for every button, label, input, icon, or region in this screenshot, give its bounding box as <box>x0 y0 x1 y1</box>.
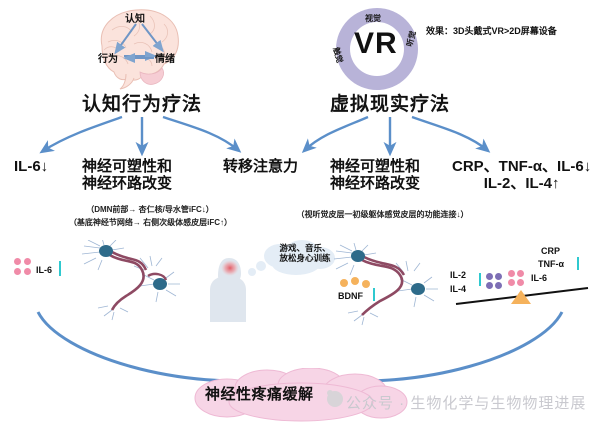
outcome-attention-shift: 转移注意力 <box>223 158 298 175</box>
vr-effect-note: 效果：3D头戴式VR>2D屏幕设备 <box>426 24 557 37</box>
therapy-title-vrt: 虚拟现实疗法 <box>330 89 450 116</box>
il24-up-arrow-icon <box>476 272 484 288</box>
outcome-line-2: 神经环路改变 <box>330 175 420 192</box>
balance-label-il4: IL-4 <box>450 284 466 294</box>
outcome-line-2: 神经环路改变 <box>82 175 172 192</box>
il24-molecule-dots <box>486 273 508 291</box>
il6-down-arrow-icon <box>56 260 64 278</box>
il6-balance-dots <box>508 270 530 288</box>
brain-label-emotion: 情绪 <box>155 50 175 65</box>
balance-label-crp: CRP <box>541 246 560 256</box>
brain-label-cognition: 认知 <box>125 10 145 25</box>
outcome-line-2: IL-2、IL-4↑ <box>452 175 591 192</box>
outcome-neuroplasticity-right: 神经可塑性和 神经环路改变 <box>330 158 420 192</box>
outcome-line-1: 神经可塑性和 <box>330 158 420 175</box>
bdnf-molecule-dots <box>340 277 374 287</box>
brain-label-behavior: 行为 <box>98 50 118 65</box>
outcome-il6-down: IL-6↓ <box>14 158 48 175</box>
outcome-note-basal: （基底神经节网络→ 右侧次级体感皮层iFC↑） <box>18 217 283 228</box>
outcome-note-sensory: （视听觉皮层一初级躯体感觉皮层的功能连接↓） <box>275 209 490 220</box>
vr-center-label: VR <box>354 27 398 61</box>
outcome-line-1: CRP、TNF-α、IL-6↓ <box>452 158 591 175</box>
watermark-text: 公众号 · 生物化学与生物物理进展 <box>346 392 586 413</box>
outcome-line-1: 神经可塑性和 <box>82 158 172 175</box>
outcome-note-dmn: （DMN前部→ 杏仁核/导水管iFC↓） <box>35 204 265 215</box>
bdnf-illustration-label: BDNF <box>338 291 363 301</box>
balance-label-il6: IL-6 <box>531 273 547 283</box>
therapy-title-cbt: 认知行为疗法 <box>82 89 202 116</box>
vr-label-vision: 视觉 <box>365 13 381 24</box>
bdnf-up-arrow-icon <box>370 287 378 303</box>
neuron-illustration-left <box>78 240 188 322</box>
balance-label-il2: IL-2 <box>450 270 466 280</box>
result-label: 神经性疼痛缓解 <box>205 383 314 404</box>
outcome-cytokines: CRP、TNF-α、IL-6↓ IL-2、IL-4↑ <box>452 158 591 192</box>
balance-label-tnfa: TNF-α <box>538 259 564 269</box>
il6-illustration-label: IL-6 <box>36 265 52 275</box>
diagram-canvas: 认知 行为 情绪 VR 视觉 触觉 听觉 效果：3D头戴式VR>2D屏幕设备 认… <box>0 0 600 425</box>
crp-down-arrow-icon <box>574 256 582 272</box>
watermark-logo-icon <box>325 388 345 408</box>
outcome-neuroplasticity-left: 神经可塑性和 神经环路改变 <box>82 158 172 192</box>
